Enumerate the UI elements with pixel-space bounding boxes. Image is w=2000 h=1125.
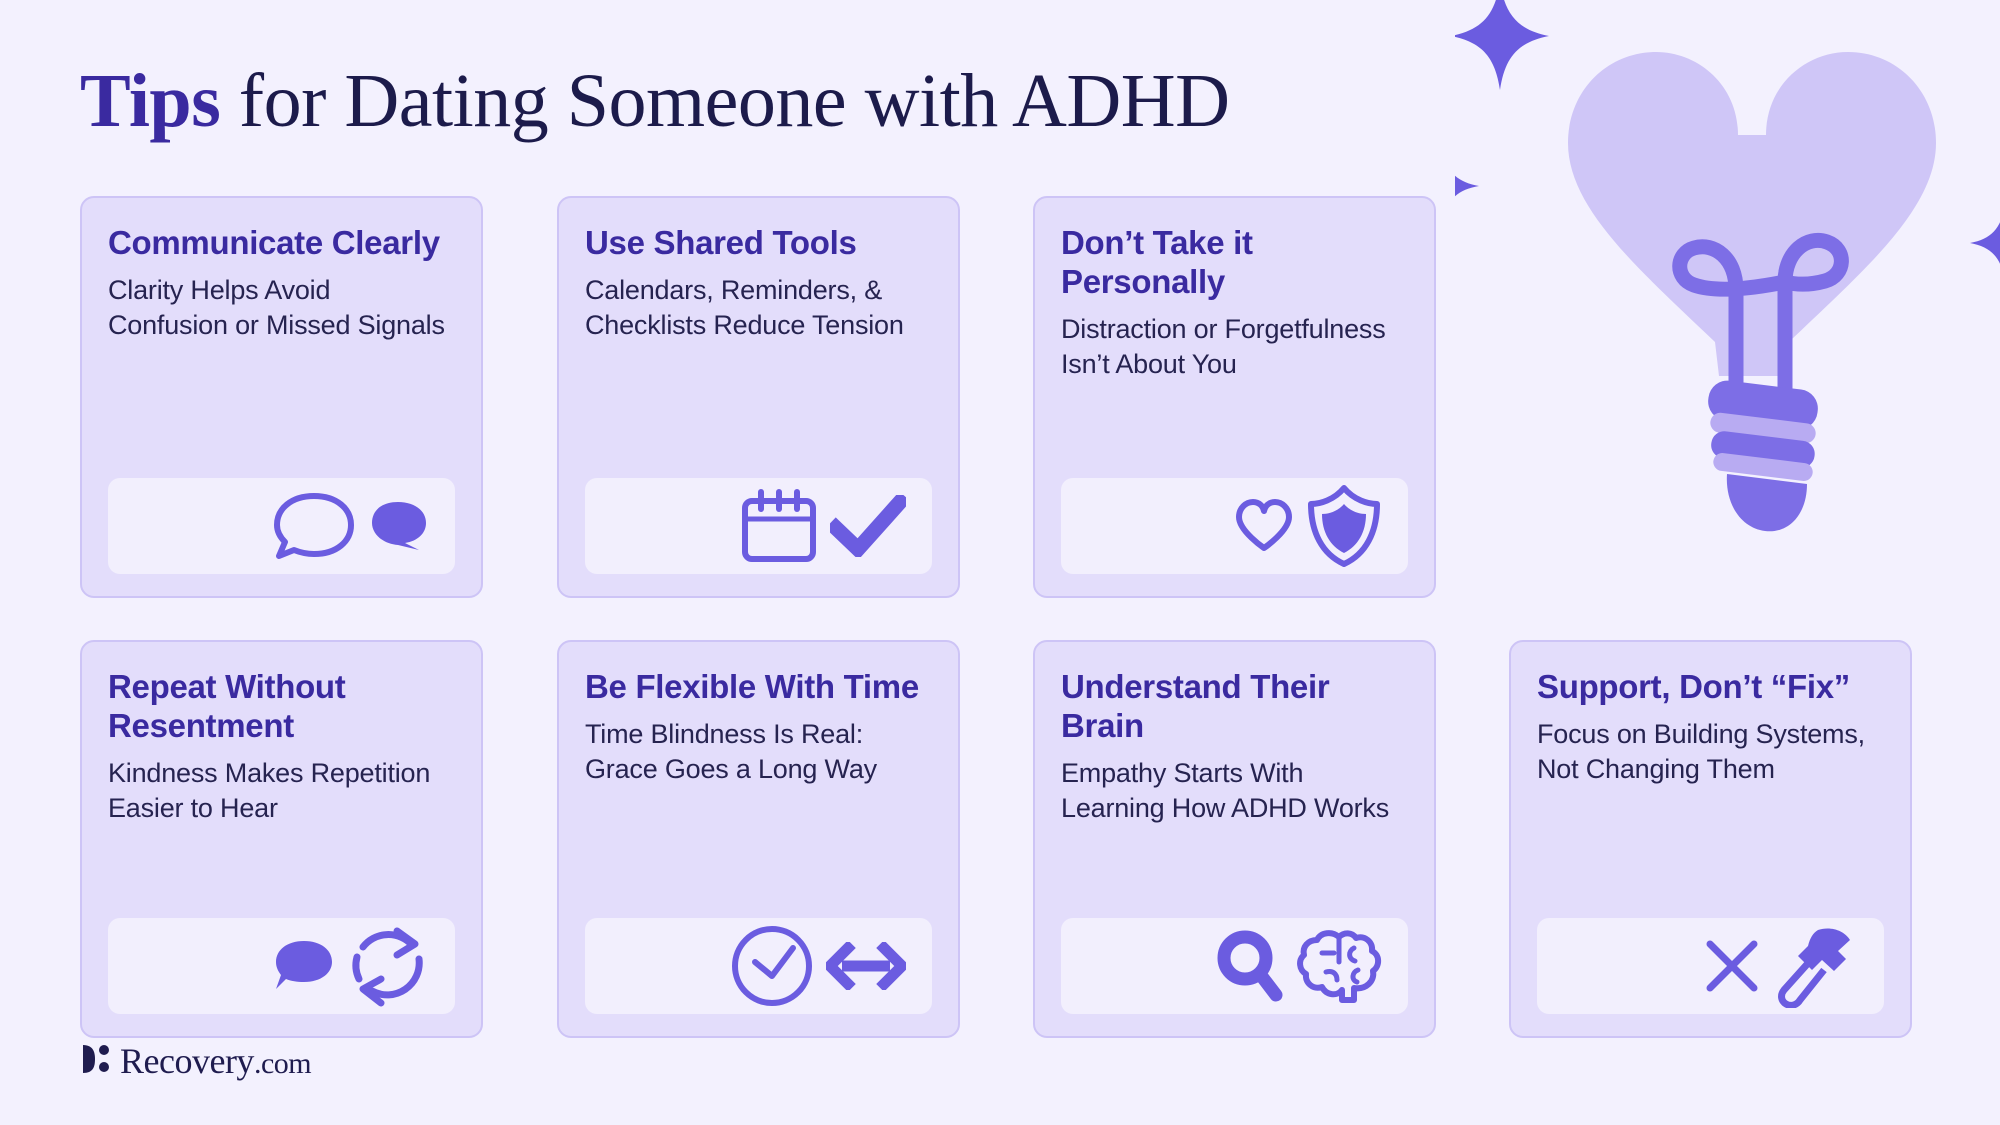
logo-tld: .com bbox=[254, 1047, 311, 1080]
card-icon-strip bbox=[108, 478, 455, 574]
double-arrow-icon bbox=[826, 942, 906, 990]
card-subtitle: Kindness Makes Repetition Easier to Hear bbox=[108, 756, 455, 826]
card-subtitle: Clarity Helps Avoid Confusion or Missed … bbox=[108, 273, 455, 343]
speech-bubble-filled-icon bbox=[273, 939, 335, 993]
sparkle-icon bbox=[1455, 0, 2000, 281]
card-subtitle: Empathy Starts With Learning How ADHD Wo… bbox=[1061, 756, 1408, 826]
card-title: Don’t Take it Personally bbox=[1061, 224, 1408, 302]
page-title-rest: for Dating Someone with ADHD bbox=[220, 59, 1229, 143]
card-subtitle: Focus on Building Systems, Not Changing … bbox=[1537, 717, 1884, 787]
card-title: Understand Their Brain bbox=[1061, 668, 1408, 746]
heart-bulb-glass bbox=[1568, 52, 1936, 376]
card-icon-strip bbox=[1537, 918, 1884, 1014]
page-title-accent: Tips bbox=[80, 59, 220, 143]
tip-card-be-flexible-with-time[interactable]: Be Flexible With Time Time Blindness Is … bbox=[557, 640, 960, 1038]
card-subtitle: Calendars, Reminders, & Checklists Reduc… bbox=[585, 273, 932, 343]
card-icon-strip bbox=[108, 918, 455, 1014]
recovery-leaf-mark-icon bbox=[80, 1042, 110, 1081]
card-icon-strip bbox=[1061, 918, 1408, 1014]
card-title: Communicate Clearly bbox=[108, 224, 455, 263]
shield-icon bbox=[1306, 484, 1382, 568]
magnifier-icon bbox=[1216, 929, 1284, 1003]
card-icon-strip bbox=[585, 918, 932, 1014]
speech-bubble-outline-icon bbox=[271, 490, 357, 562]
clock-icon bbox=[730, 924, 814, 1008]
card-title: Be Flexible With Time bbox=[585, 668, 932, 707]
hammer-icon bbox=[1772, 924, 1858, 1008]
card-subtitle: Distraction or Forgetfulness Isn’t About… bbox=[1061, 312, 1408, 382]
card-title: Use Shared Tools bbox=[585, 224, 932, 263]
refresh-circle-icon bbox=[347, 923, 429, 1009]
tip-card-understand-their-brain[interactable]: Understand Their Brain Empathy Starts Wi… bbox=[1033, 640, 1436, 1038]
recovery-wordmark: Recovery.com bbox=[120, 1040, 311, 1082]
page-title: Tips for Dating Someone with ADHD bbox=[80, 58, 1230, 145]
tip-card-communicate-clearly[interactable]: Communicate Clearly Clarity Helps Avoid … bbox=[80, 196, 483, 598]
card-title: Support, Don’t “Fix” bbox=[1537, 668, 1884, 707]
card-title: Repeat Without Resentment bbox=[108, 668, 455, 746]
filament-icon bbox=[1680, 240, 1842, 410]
heart-outline-icon bbox=[1234, 498, 1294, 554]
card-icon-strip bbox=[585, 478, 932, 574]
recovery-logo[interactable]: Recovery.com bbox=[80, 1040, 311, 1082]
speech-bubble-filled-icon bbox=[369, 500, 429, 552]
card-subtitle: Time Blindness Is Real: Grace Goes a Lon… bbox=[585, 717, 932, 787]
tip-card-repeat-without-resentment[interactable]: Repeat Without Resentment Kindness Makes… bbox=[80, 640, 483, 1038]
heart-lightbulb-illustration bbox=[1455, 0, 2000, 610]
x-mark-icon bbox=[1704, 938, 1760, 994]
checkmark-icon bbox=[830, 495, 906, 557]
tip-card-support-dont-fix[interactable]: Support, Don’t “Fix” Focus on Building S… bbox=[1509, 640, 1912, 1038]
tip-card-use-shared-tools[interactable]: Use Shared Tools Calendars, Reminders, &… bbox=[557, 196, 960, 598]
bulb-base bbox=[1706, 378, 1820, 531]
brain-icon bbox=[1296, 928, 1382, 1004]
calendar-icon bbox=[740, 488, 818, 564]
card-icon-strip bbox=[1061, 478, 1408, 574]
tip-card-dont-take-it-personally[interactable]: Don’t Take it Personally Distraction or … bbox=[1033, 196, 1436, 598]
logo-name: Recovery bbox=[120, 1041, 254, 1081]
